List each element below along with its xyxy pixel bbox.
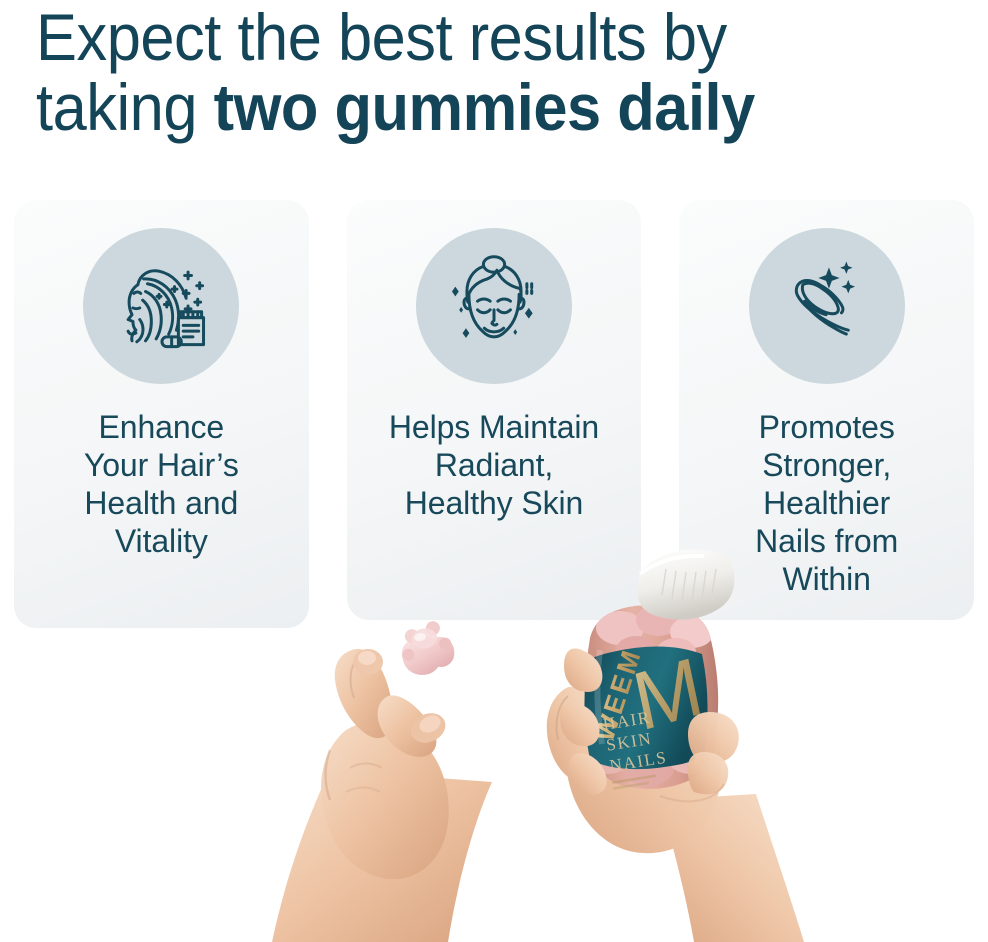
benefit-card-skin-label: Helps Maintain Radiant, Healthy Skin <box>381 408 607 522</box>
left-hand-pinching-gummy <box>272 649 492 942</box>
radiant-skin-face-icon <box>436 248 552 364</box>
svg-text:WEEM: WEEM <box>589 644 647 745</box>
benefit-card-hair-label: Enhance Your Hair’s Health and Vitality <box>76 408 247 560</box>
headline-line-1: Expect the best results by <box>36 0 727 74</box>
gummies-in-bottle <box>584 604 714 786</box>
benefit-card-hair[interactable]: Enhance Your Hair’s Health and Vitality <box>14 200 309 628</box>
benefit-cards-row: Enhance Your Hair’s Health and Vitality <box>14 200 974 630</box>
icon-circle-nails <box>749 228 905 384</box>
page-headline: Expect the best results by taking two gu… <box>36 2 888 142</box>
hair-vitality-icon <box>103 248 219 364</box>
svg-text:M: M <box>626 641 711 749</box>
strong-nail-icon <box>769 248 885 364</box>
bottle-benefit-text: HAIR SKIN NAILS <box>602 706 671 790</box>
svg-text:SKIN: SKIN <box>605 729 653 755</box>
svg-text:NAILS: NAILS <box>608 748 668 776</box>
right-hand-holding-bottle <box>547 668 804 942</box>
bottle-monogram: M <box>626 641 711 749</box>
benefit-card-nails-label: Promotes Stronger, Healthier Nails from … <box>747 408 906 598</box>
svg-text:HAIR: HAIR <box>602 708 652 734</box>
icon-circle-skin <box>416 228 572 384</box>
benefit-card-skin[interactable]: Helps Maintain Radiant, Healthy Skin <box>347 200 642 620</box>
icon-circle-hair <box>83 228 239 384</box>
headline-line-2-regular: taking <box>36 70 214 144</box>
right-hand-fingers <box>560 648 739 801</box>
bottle-brand-wordmark: WEEM <box>589 644 647 745</box>
benefit-card-nails[interactable]: Promotes Stronger, Healthier Nails from … <box>679 200 974 620</box>
headline-line-2-bold: two gummies daily <box>214 70 755 144</box>
